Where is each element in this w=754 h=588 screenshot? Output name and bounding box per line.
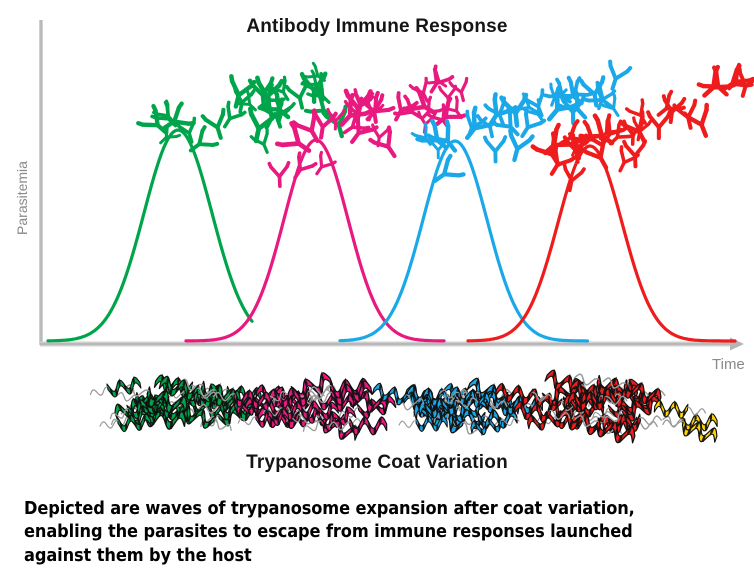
antibody-swarm [138, 62, 754, 193]
parasitemia-wave-plot [0, 0, 754, 470]
wave-curve-2 [186, 140, 444, 341]
caption-line-3: against them by the host [24, 544, 736, 567]
axes [40, 20, 744, 351]
wave-curve-1 [48, 130, 252, 341]
antibody-icon [722, 65, 753, 96]
bottom-title: Trypanosome Coat Variation [0, 452, 754, 474]
trypanosome-populations [88, 365, 719, 447]
antibody-icon [560, 165, 584, 192]
figure-caption: Depicted are waves of trypanosome expans… [24, 497, 736, 567]
antibody-icon [602, 62, 630, 92]
figure-root: Antibody Immune Response Parasitemia Tim… [0, 0, 754, 588]
trypanosome-icon [88, 375, 141, 402]
antibody-icon [269, 163, 289, 187]
antibody-icon [485, 137, 506, 162]
caption-line-2: enabling the parasites to escape from im… [24, 520, 736, 543]
wave-curves [48, 130, 735, 341]
caption-line-1: Depicted are waves of trypanosome expans… [24, 497, 736, 520]
trypanosome-icon [99, 412, 151, 433]
wave-curve-4 [468, 146, 735, 341]
